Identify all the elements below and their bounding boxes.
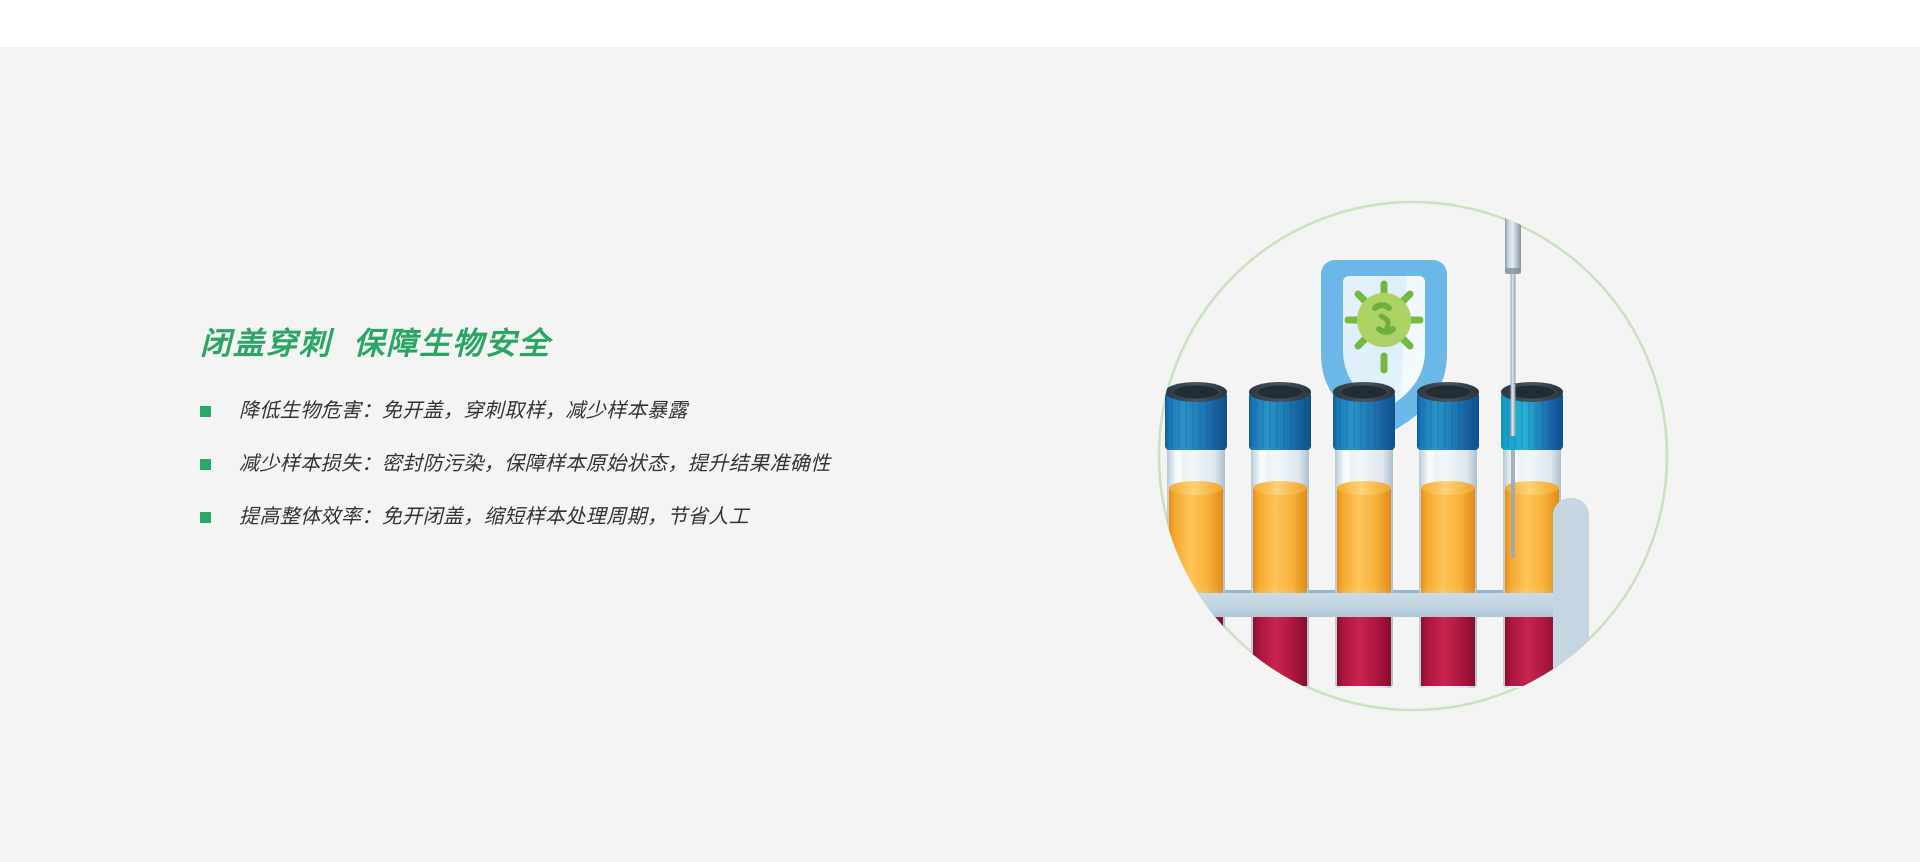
bullet-square-icon [200, 512, 211, 523]
closed-cap-piercing-illustration [1155, 198, 1671, 714]
list-item: 减少样本损失：密封防污染，保障样本原始状态，提升结果准确性 [200, 451, 1020, 477]
tube-cap-5 [1501, 382, 1563, 450]
illustration-clip-group [1159, 206, 1599, 714]
feature-list: 降低生物危害：免开盖，穿刺取样，减少样本暴露 减少样本损失：密封防污染，保障样本… [200, 398, 1020, 530]
bullet-square-icon [200, 459, 211, 470]
rack-right-post [1553, 498, 1589, 714]
list-item-label: 提高整体效率：免开闭盖，缩短样本处理周期，节省人工 [239, 504, 749, 531]
page-root: 闭盖穿刺 保障生物安全 降低生物危害：免开盖，穿刺取样，减少样本暴露 减少样本损… [0, 0, 1920, 862]
text-column: 闭盖穿刺 保障生物安全 降低生物危害：免开盖，穿刺取样，减少样本暴露 减少样本损… [200, 325, 1020, 530]
bullet-square-icon [200, 406, 211, 417]
list-item-label: 降低生物危害：免开盖，穿刺取样，减少样本暴露 [239, 398, 688, 425]
list-item: 降低生物危害：免开盖，穿刺取样，减少样本暴露 [200, 398, 1020, 424]
test-tube-4 [1417, 382, 1479, 688]
tube-cap-4 [1417, 382, 1479, 450]
test-tube-2 [1249, 382, 1311, 688]
test-tube-3 [1333, 382, 1395, 688]
list-item-label: 减少样本损失：密封防污染，保障样本原始状态，提升结果准确性 [239, 451, 831, 478]
test-tube-1 [1165, 382, 1227, 688]
list-item: 提高整体效率：免开闭盖，缩短样本处理周期，节省人工 [200, 504, 1020, 530]
tube-cap-3 [1333, 382, 1395, 450]
tube-cap-2 [1249, 382, 1311, 450]
illustration-panel [1155, 198, 1671, 714]
page-title: 闭盖穿刺 保障生物安全 [200, 325, 1020, 362]
tube-cap-1 [1165, 382, 1227, 450]
